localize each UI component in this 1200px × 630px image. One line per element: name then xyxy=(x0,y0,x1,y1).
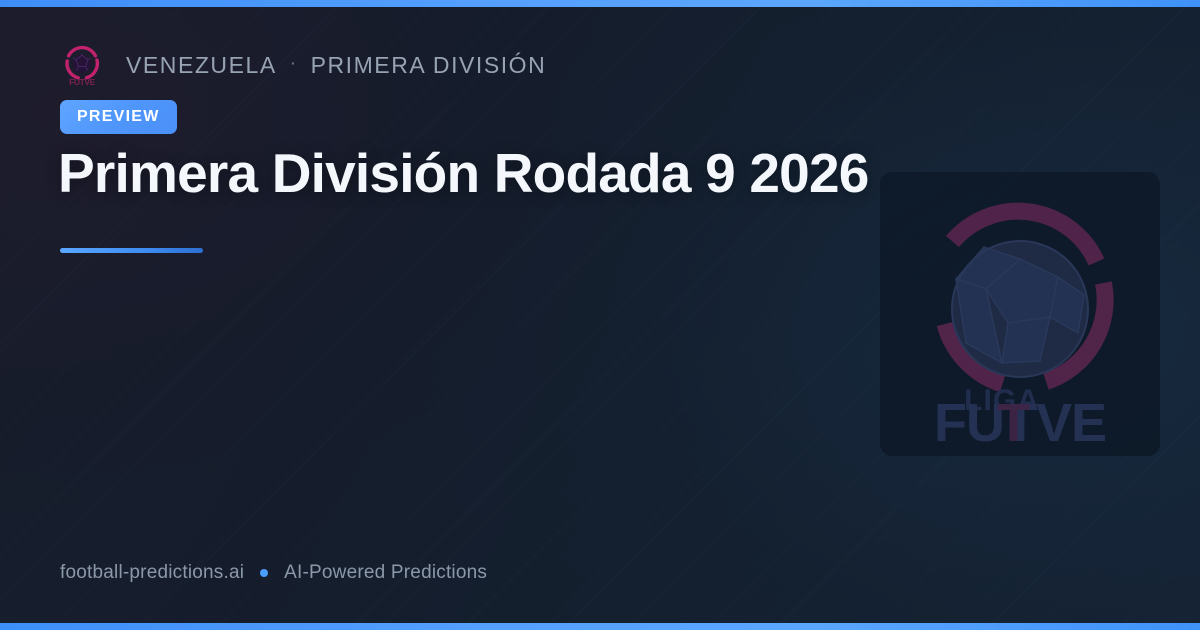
liga-futve-badge-icon: FUTVE xyxy=(60,42,104,88)
league-logo-plate: LIGA FUTVE T xyxy=(880,172,1160,456)
footer-tagline: AI-Powered Predictions xyxy=(284,562,487,584)
top-accent-rail xyxy=(0,0,1200,7)
title-accent-bar xyxy=(60,248,203,253)
breadcrumb-country: VENEZUELA xyxy=(126,52,277,79)
breadcrumb: FUTVE VENEZUELA · PRIMERA DIVISIÓN xyxy=(60,42,546,88)
footer-site: football-predictions.ai xyxy=(60,562,244,584)
footer: football-predictions.ai AI-Powered Predi… xyxy=(60,562,487,584)
breadcrumb-competition: PRIMERA DIVISIÓN xyxy=(311,52,547,79)
blue-dot-icon xyxy=(260,569,268,577)
svg-text:T: T xyxy=(955,393,1085,443)
status-badge: PREVIEW xyxy=(60,100,177,134)
breadcrumb-separator: · xyxy=(290,53,298,75)
liga-futve-logo: LIGA FUTVE T xyxy=(898,185,1142,443)
svg-text:FUTVE: FUTVE xyxy=(69,77,96,87)
og-preview-card: FUTVE VENEZUELA · PRIMERA DIVISIÓN PREVI… xyxy=(0,0,1200,630)
bottom-accent-rail xyxy=(0,623,1200,630)
breadcrumb-text: VENEZUELA · PRIMERA DIVISIÓN xyxy=(126,52,546,79)
page-title: Primera División Rodada 9 2026 xyxy=(58,141,878,205)
